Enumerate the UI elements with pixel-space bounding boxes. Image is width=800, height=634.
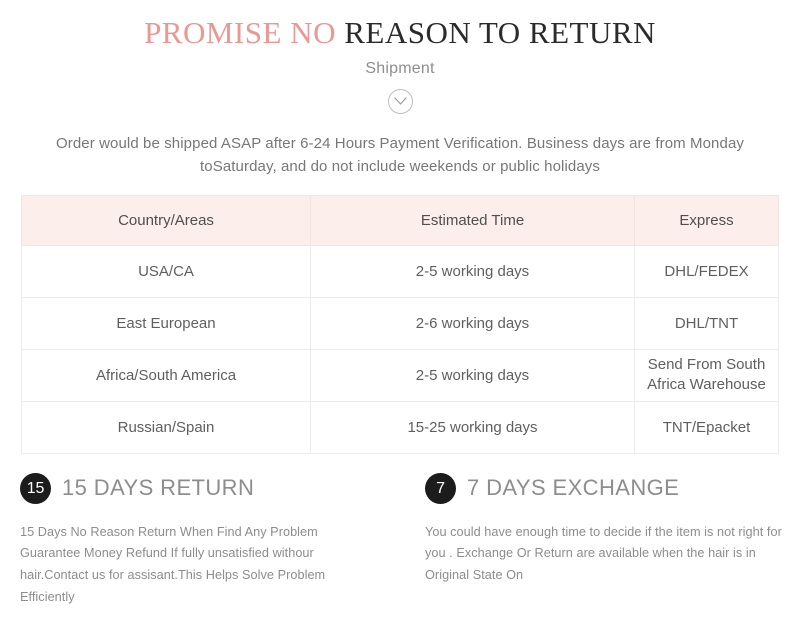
cell-estimated-time: 2-6 working days bbox=[311, 297, 635, 349]
cell-express: Send From South Africa Warehouse bbox=[635, 349, 779, 401]
cell-express: DHL/TNT bbox=[635, 297, 779, 349]
cell-country: Russian/Spain bbox=[22, 401, 311, 453]
guarantee-exchange-title: 7 DAYS EXCHANGE bbox=[467, 475, 679, 501]
guarantee-exchange-header: 7 7 DAYS EXCHANGE bbox=[425, 473, 800, 504]
column-header-express: Express bbox=[635, 195, 779, 245]
page-subtitle: Shipment bbox=[0, 60, 800, 78]
cell-country: USA/CA bbox=[22, 245, 311, 297]
table-row: Russian/Spain 15-25 working days TNT/Epa… bbox=[22, 401, 779, 453]
page-title-main: REASON TO RETURN bbox=[344, 15, 656, 50]
table-row: USA/CA 2-5 working days DHL/FEDEX bbox=[22, 245, 779, 297]
guarantee-return-title: 15 DAYS RETURN bbox=[62, 475, 254, 501]
guarantee-exchange: 7 7 DAYS EXCHANGE You could have enough … bbox=[425, 473, 800, 609]
cell-estimated-time: 15-25 working days bbox=[311, 401, 635, 453]
guarantee-return: 15 15 DAYS RETURN 15 Days No Reason Retu… bbox=[20, 473, 425, 609]
shipping-table-header: Country/Areas Estimated Time Express bbox=[22, 195, 779, 245]
page-title: PROMISE NO REASON TO RETURN bbox=[0, 16, 800, 50]
chevron-down-icon[interactable] bbox=[388, 89, 413, 114]
cell-express: DHL/FEDEX bbox=[635, 245, 779, 297]
days-badge-icon: 7 bbox=[425, 473, 456, 504]
page-header: PROMISE NO REASON TO RETURN Shipment bbox=[0, 0, 800, 114]
cell-country: Africa/South America bbox=[22, 349, 311, 401]
table-row: Africa/South America 2-5 working days Se… bbox=[22, 349, 779, 401]
table-header-row: Country/Areas Estimated Time Express bbox=[22, 195, 779, 245]
guarantee-return-body: 15 Days No Reason Return When Find Any P… bbox=[20, 522, 376, 609]
cell-estimated-time: 2-5 working days bbox=[311, 245, 635, 297]
shipping-intro-text: Order would be shipped ASAP after 6-24 H… bbox=[20, 132, 780, 179]
cell-country: East European bbox=[22, 297, 311, 349]
days-badge-icon: 15 bbox=[20, 473, 51, 504]
guarantees-section: 15 15 DAYS RETURN 15 Days No Reason Retu… bbox=[0, 473, 800, 609]
guarantee-exchange-body: You could have enough time to decide if … bbox=[425, 522, 783, 588]
shipping-table-body: USA/CA 2-5 working days DHL/FEDEX East E… bbox=[22, 245, 779, 453]
page-title-accent: PROMISE NO bbox=[144, 15, 336, 50]
cell-express: TNT/Epacket bbox=[635, 401, 779, 453]
column-header-country: Country/Areas bbox=[22, 195, 311, 245]
column-header-estimated-time: Estimated Time bbox=[311, 195, 635, 245]
table-row: East European 2-6 working days DHL/TNT bbox=[22, 297, 779, 349]
cell-estimated-time: 2-5 working days bbox=[311, 349, 635, 401]
guarantee-return-header: 15 15 DAYS RETURN bbox=[20, 473, 407, 504]
shipping-table: Country/Areas Estimated Time Express USA… bbox=[21, 195, 779, 454]
